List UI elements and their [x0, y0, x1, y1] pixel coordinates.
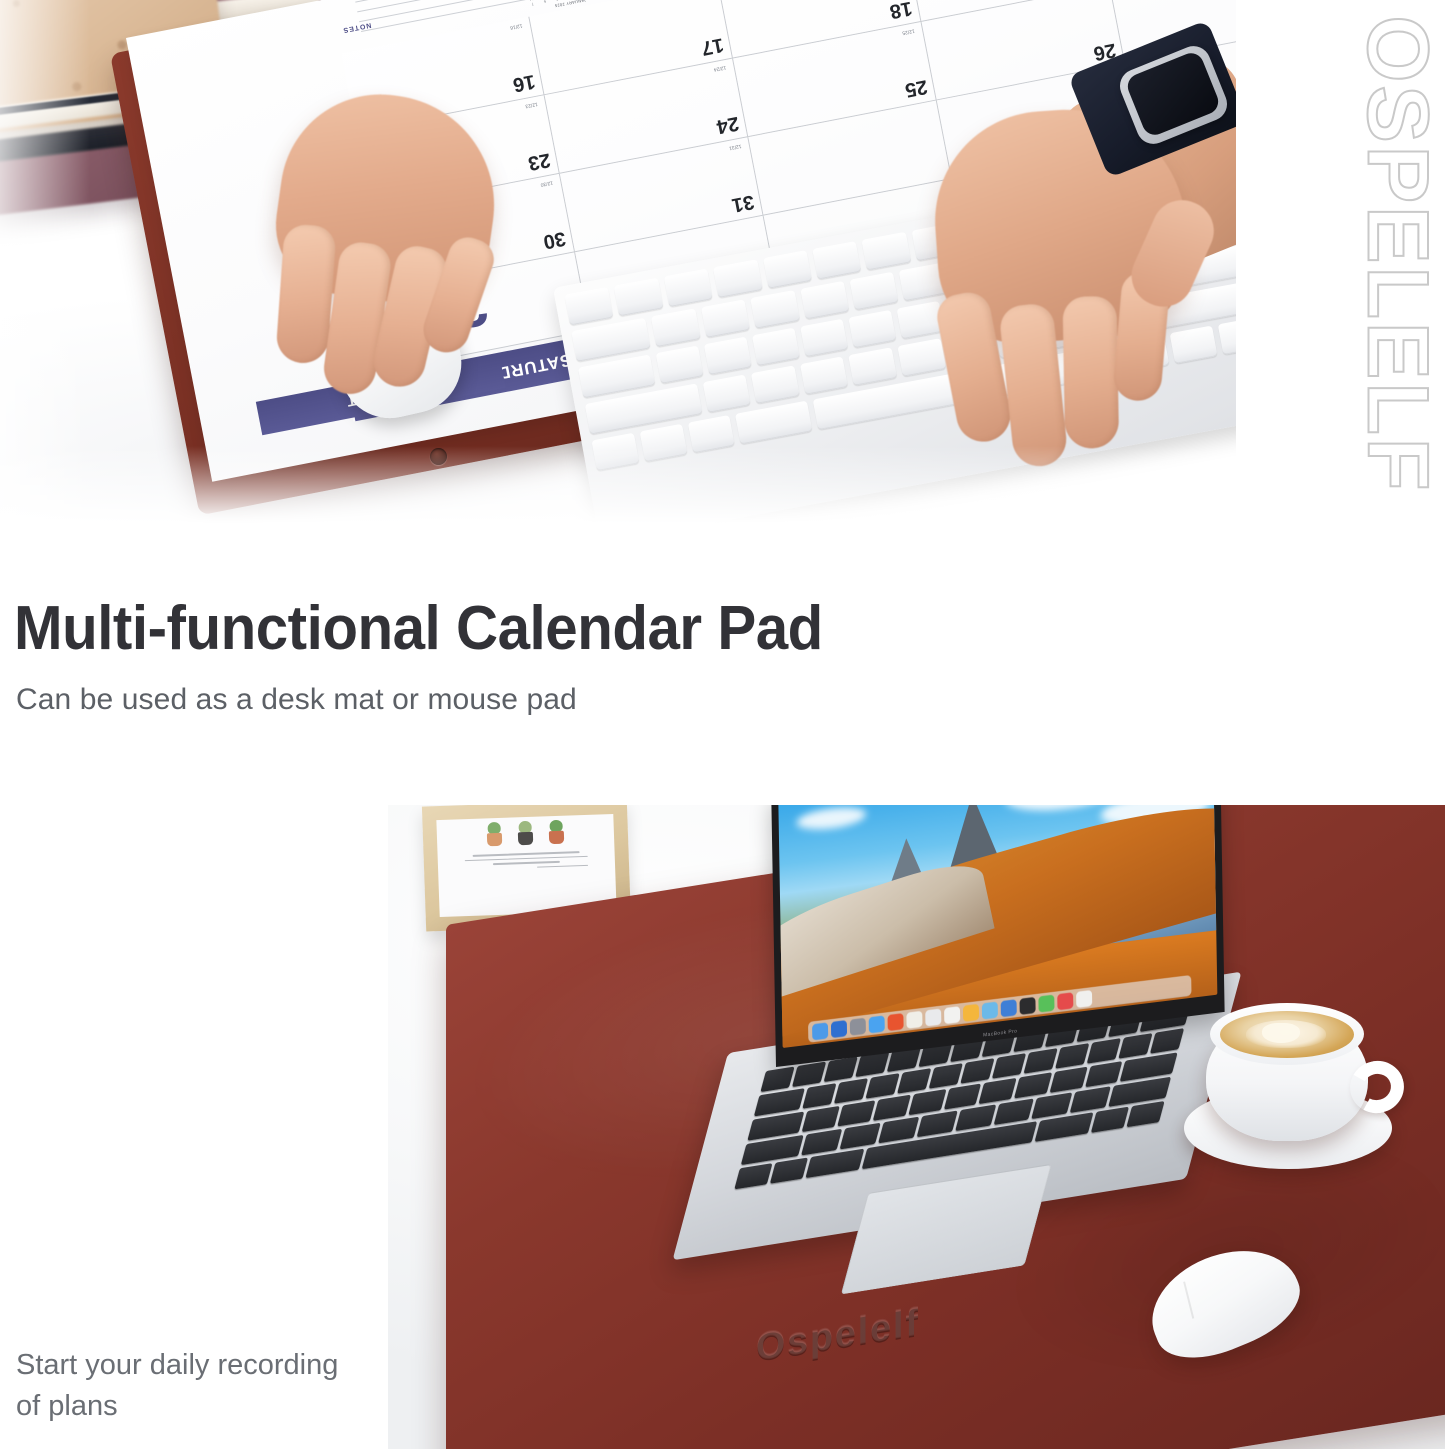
- key: [1032, 1092, 1073, 1119]
- right-hand: [888, 99, 1236, 481]
- dock-icon-calendar[interactable]: [925, 1008, 941, 1026]
- key: [812, 241, 861, 280]
- dock-icon-reminders[interactable]: [963, 1003, 979, 1021]
- calendar-cell-date: 16: [511, 69, 537, 96]
- key: [802, 1106, 840, 1132]
- calendar-cell-sublabel: 12/25: [902, 27, 915, 35]
- succulent-icon: [485, 822, 503, 847]
- key: [763, 250, 812, 289]
- calendar-cell-date: 18: [887, 0, 913, 23]
- key: [614, 278, 663, 317]
- key: [834, 1078, 868, 1104]
- calendar-cell-sublabel: 12/16: [510, 22, 523, 30]
- key: [1024, 1048, 1058, 1074]
- key: [1055, 1043, 1089, 1069]
- brand-watermark: OSPELELF: [1347, 0, 1445, 500]
- dock-icon-photos[interactable]: [1001, 999, 1017, 1017]
- key: [571, 318, 651, 362]
- desk-mat-with-laptop-photo: Ospelelf: [388, 805, 1445, 1449]
- calendar-cell-sublabel: 12/31: [729, 143, 742, 151]
- calendar-cell-date: 31: [730, 189, 756, 216]
- key: [1049, 1067, 1087, 1093]
- dock-icon-maps[interactable]: [982, 1001, 998, 1019]
- calendar-cell-sublabel: 12/30: [540, 179, 553, 187]
- dock-icon-finder[interactable]: [812, 1022, 828, 1040]
- key: [1014, 1072, 1052, 1098]
- latte-art-heart: [1262, 1023, 1300, 1043]
- key: [750, 290, 799, 329]
- dock-icon-siri[interactable]: [850, 1017, 866, 1035]
- dock-icon-notes[interactable]: [944, 1006, 960, 1024]
- left-hand: [241, 80, 533, 432]
- dock-icon-mail[interactable]: [888, 1013, 904, 1031]
- calendar-cell-date: 23: [526, 148, 552, 175]
- bottom-caption: Start your daily recording of plans: [16, 1345, 346, 1427]
- key: [651, 308, 700, 347]
- key: [848, 310, 896, 348]
- key: [897, 1068, 931, 1094]
- key: [1087, 1038, 1121, 1064]
- frame-text-line: [465, 855, 587, 861]
- key: [992, 1053, 1026, 1079]
- key: [929, 1063, 963, 1089]
- key: [702, 374, 751, 412]
- frame-text-lines: [462, 851, 590, 874]
- key: [800, 319, 848, 357]
- key: [578, 354, 655, 398]
- finger: [1062, 296, 1119, 449]
- key: [564, 287, 613, 326]
- photo-bottom-fade: [0, 446, 1236, 536]
- key: [713, 259, 762, 298]
- calendar-pad-in-use-photo: JANUARY 2025 1234567 891011121314 151617…: [0, 0, 1236, 536]
- key: [801, 1129, 842, 1156]
- key: [979, 1078, 1017, 1104]
- calendar-cell-date: 17: [699, 32, 725, 59]
- cloud: [796, 805, 866, 833]
- dock-icon-music[interactable]: [1057, 992, 1073, 1010]
- calendar-cell-sublabel: 12/24: [714, 64, 727, 72]
- frame-text-line: [537, 865, 588, 868]
- key: [803, 1083, 837, 1109]
- brand-watermark-text: OSPELELF: [1348, 16, 1445, 494]
- succulent-icon: [547, 820, 565, 845]
- key: [873, 1095, 911, 1121]
- key: [664, 269, 713, 308]
- dock-icon-contacts[interactable]: [907, 1010, 923, 1028]
- dock-icon-safari[interactable]: [869, 1015, 885, 1033]
- key: [1085, 1061, 1123, 1087]
- calendar-cell-date: 24: [714, 111, 740, 138]
- key: [701, 299, 750, 338]
- note-line: [359, 0, 536, 22]
- latte-surface: [1220, 1011, 1354, 1058]
- key: [943, 1083, 981, 1109]
- calendar-cell-sublabel: 12/23: [525, 101, 538, 109]
- key: [1118, 1033, 1152, 1059]
- key: [704, 337, 752, 375]
- key: [866, 1073, 900, 1099]
- key: [800, 281, 849, 320]
- key: [1070, 1086, 1111, 1113]
- succulent-icon: [516, 821, 534, 846]
- calendar-cell-date: 30: [541, 226, 567, 253]
- key: [800, 356, 849, 394]
- key: [955, 1104, 996, 1131]
- dock-icon-trash[interactable]: [1076, 989, 1092, 1007]
- key: [849, 347, 898, 385]
- key: [656, 346, 704, 384]
- key: [849, 272, 898, 311]
- key: [760, 1066, 794, 1092]
- key: [993, 1098, 1034, 1125]
- dock-icon-facetime[interactable]: [1039, 994, 1055, 1012]
- headline-block: Multi-functional Calendar Pad Can be use…: [14, 596, 1214, 717]
- page-subtitle: Can be used as a desk mat or mouse pad: [16, 683, 1214, 717]
- key: [878, 1117, 919, 1144]
- dock-icon-launchpad[interactable]: [831, 1019, 847, 1037]
- succulent-illustrations: [485, 820, 565, 847]
- key: [839, 1123, 880, 1150]
- key: [916, 1111, 957, 1138]
- key: [751, 365, 800, 403]
- page-title: Multi-functional Calendar Pad: [14, 596, 1142, 661]
- calendar-cell-date: 25: [903, 74, 929, 101]
- dock-icon-messages[interactable]: [1020, 996, 1036, 1014]
- frame-text-line: [493, 861, 559, 865]
- key: [752, 328, 800, 366]
- key: [735, 401, 812, 445]
- key: [960, 1058, 994, 1084]
- key: [837, 1100, 875, 1126]
- key: [792, 1061, 826, 1087]
- key: [908, 1089, 946, 1115]
